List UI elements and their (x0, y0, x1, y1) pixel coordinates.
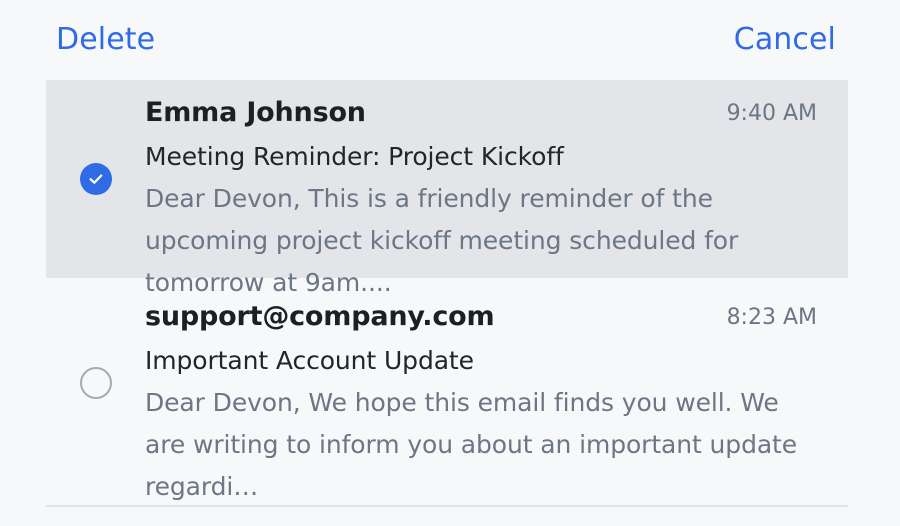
message-sender: Emma Johnson (145, 96, 366, 130)
message-timestamp: 9:40 AM (727, 100, 817, 128)
message-subject: Meeting Reminder: Project Kickoff (145, 141, 848, 173)
message-subject: Important Account Update (145, 345, 848, 377)
message-row[interactable]: Emma Johnson 9:40 AM Meeting Reminder: P… (46, 80, 848, 278)
check-circle-filled-icon[interactable] (80, 163, 112, 195)
message-header-line: support@company.com 8:23 AM (145, 300, 848, 338)
message-timestamp: 8:23 AM (727, 304, 817, 332)
circle-outline-icon[interactable] (80, 367, 112, 399)
message-header-line: Emma Johnson 9:40 AM (145, 96, 848, 134)
action-bar: Delete Cancel (0, 0, 900, 80)
message-list: Emma Johnson 9:40 AM Meeting Reminder: P… (0, 80, 900, 476)
delete-button[interactable]: Delete (56, 21, 155, 59)
message-content: Emma Johnson 9:40 AM Meeting Reminder: P… (145, 96, 848, 304)
message-sender: support@company.com (145, 300, 494, 334)
message-row[interactable]: support@company.com 8:23 AM Important Ac… (46, 278, 848, 476)
message-content: support@company.com 8:23 AM Important Ac… (145, 300, 848, 508)
list-bottom-divider (46, 505, 848, 507)
message-preview: Dear Devon, We hope this email finds you… (145, 382, 817, 508)
cancel-button[interactable]: Cancel (734, 21, 836, 59)
